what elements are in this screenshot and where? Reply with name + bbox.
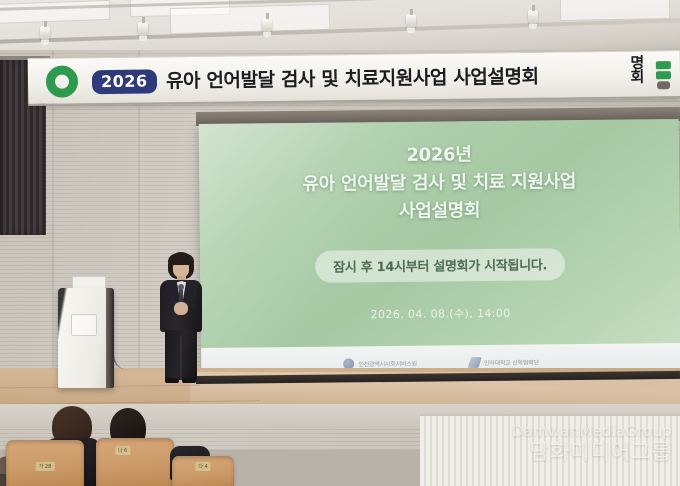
- slide-logo-university: 인하대학교 산학협력단: [469, 356, 539, 368]
- podium: [58, 288, 114, 388]
- podium-cable: [112, 300, 128, 370]
- banner-title: 유아 언어발달 검사 및 치료지원사업 사업설명회: [166, 62, 539, 94]
- spotlight-icon: [138, 22, 148, 37]
- event-banner: 2026 유아 언어발달 검사 및 치료지원사업 사업설명회 명회: [28, 50, 680, 106]
- banner-right-logo-icon: [652, 55, 674, 95]
- slide-title: 2026년 유아 언어발달 검사 및 치료 지원사업 사업설명회: [199, 139, 680, 228]
- green-ring-logo-icon: [46, 65, 78, 97]
- spotlight-icon: [528, 10, 538, 25]
- presenter-shoe-left: [165, 378, 179, 383]
- seat-label: 나 6: [115, 446, 130, 455]
- lighting-track: [0, 18, 680, 44]
- spotlight-icon: [406, 14, 416, 29]
- slide-notice-pill: 잠시 후 14시부터 설명회가 시작됩니다.: [315, 248, 565, 283]
- seat-label: 다 4: [195, 462, 210, 471]
- banner-side-text: 명회: [627, 54, 648, 82]
- projection-screen: 2026년 유아 언어발달 검사 및 치료 지원사업 사업설명회 잠시 후 14…: [199, 119, 680, 382]
- ceiling-panel: [560, 0, 670, 21]
- presenter-hands: [174, 302, 188, 315]
- banner-year-badge: 2026: [92, 69, 157, 94]
- list-item[interactable]: 가 28: [6, 440, 84, 486]
- spotlight-icon: [40, 26, 50, 41]
- slide-datetime: 2026. 04. 08.(수), 14:00: [201, 303, 680, 324]
- spotlight-icon: [262, 18, 272, 33]
- university-wave-icon: [467, 357, 481, 368]
- seat-label: 가 28: [36, 462, 55, 471]
- slide-logo-university-label: 인하대학교 산학협력단: [484, 357, 539, 367]
- auditorium-photo: 2026 유아 언어발달 검사 및 치료지원사업 사업설명회 명회 2026년 …: [0, 0, 680, 486]
- presenter-hair-fringe: [168, 254, 194, 265]
- slide-logo-institute-label: 인천광역시사회서비스원: [358, 358, 417, 368]
- ceiling-panel: [0, 0, 110, 24]
- audience-seating: 가 28 나 6 다 4: [0, 404, 680, 486]
- list-item[interactable]: 다 4: [172, 456, 234, 486]
- slide-title-line3: 사업설명회: [199, 195, 679, 228]
- list-item[interactable]: 나 6: [96, 438, 174, 486]
- presenter-shoe-right: [182, 378, 196, 383]
- presenter-leg-split: [180, 336, 182, 380]
- podium-control-panel: [71, 314, 97, 336]
- presenter: [152, 252, 210, 384]
